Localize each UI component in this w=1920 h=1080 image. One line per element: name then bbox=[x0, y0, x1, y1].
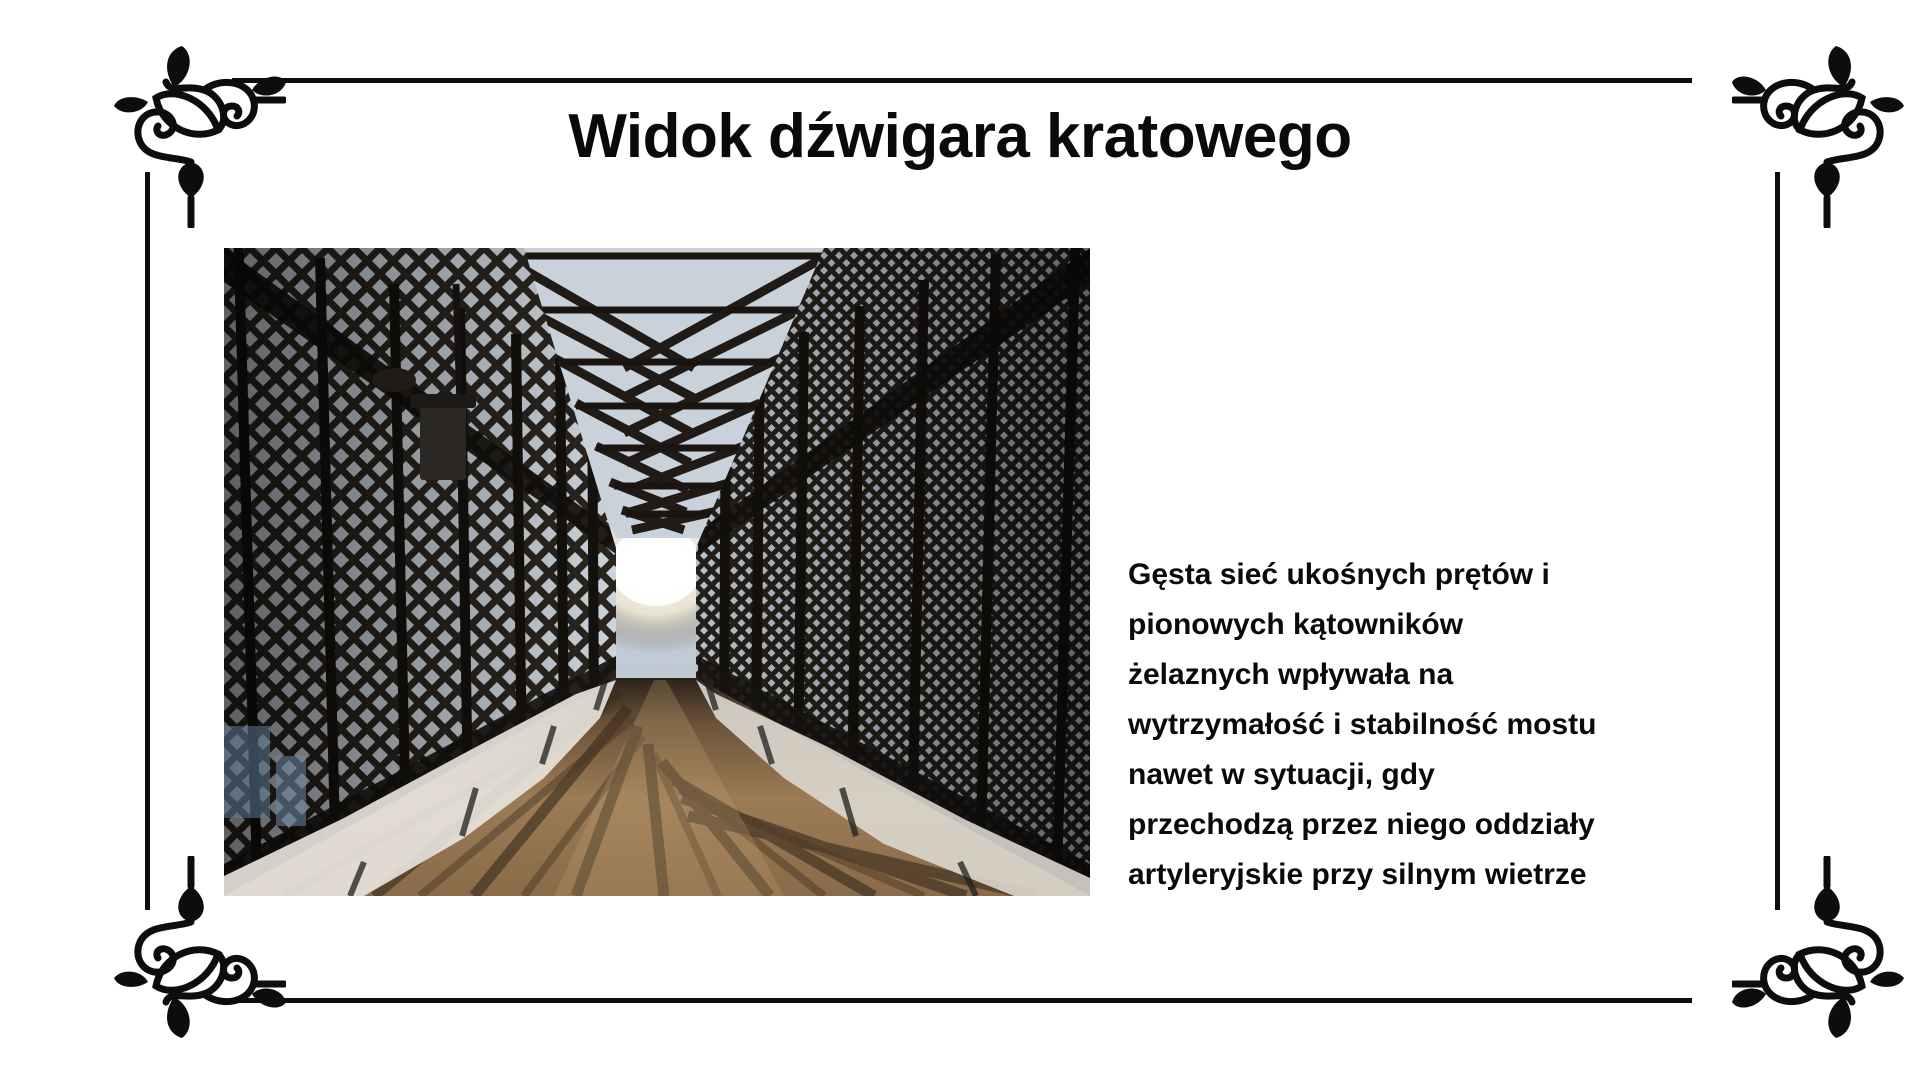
body-line: nawet w sytuacji, gdy bbox=[1128, 750, 1738, 800]
slide-title: Widok dźwigara kratowego bbox=[220, 104, 1700, 169]
body-line: przechodzą przez niego oddziały bbox=[1128, 800, 1738, 850]
body-line: wytrzymałość i stabilność mostu bbox=[1128, 700, 1738, 750]
body-paragraph: Gęsta sieć ukośnych prętów i pionowych k… bbox=[1128, 550, 1738, 900]
corner-ornament-icon bbox=[1732, 38, 1920, 228]
body-line: pionowych kątowników bbox=[1128, 600, 1738, 650]
slide-canvas: Widok dźwigara kratowego bbox=[0, 0, 1920, 1080]
frame-line-right bbox=[1775, 172, 1780, 910]
bridge-truss-photo bbox=[224, 248, 1090, 896]
frame-line-top bbox=[232, 78, 1692, 83]
body-line: Gęsta sieć ukośnych prętów i bbox=[1128, 550, 1738, 600]
body-line: żelaznych wpływała na bbox=[1128, 650, 1738, 700]
frame-line-bottom bbox=[232, 998, 1692, 1003]
corner-ornament-icon bbox=[1732, 856, 1920, 1046]
body-line: artyleryjskie przy silnym wietrze bbox=[1128, 850, 1738, 900]
frame-line-left bbox=[145, 172, 150, 910]
